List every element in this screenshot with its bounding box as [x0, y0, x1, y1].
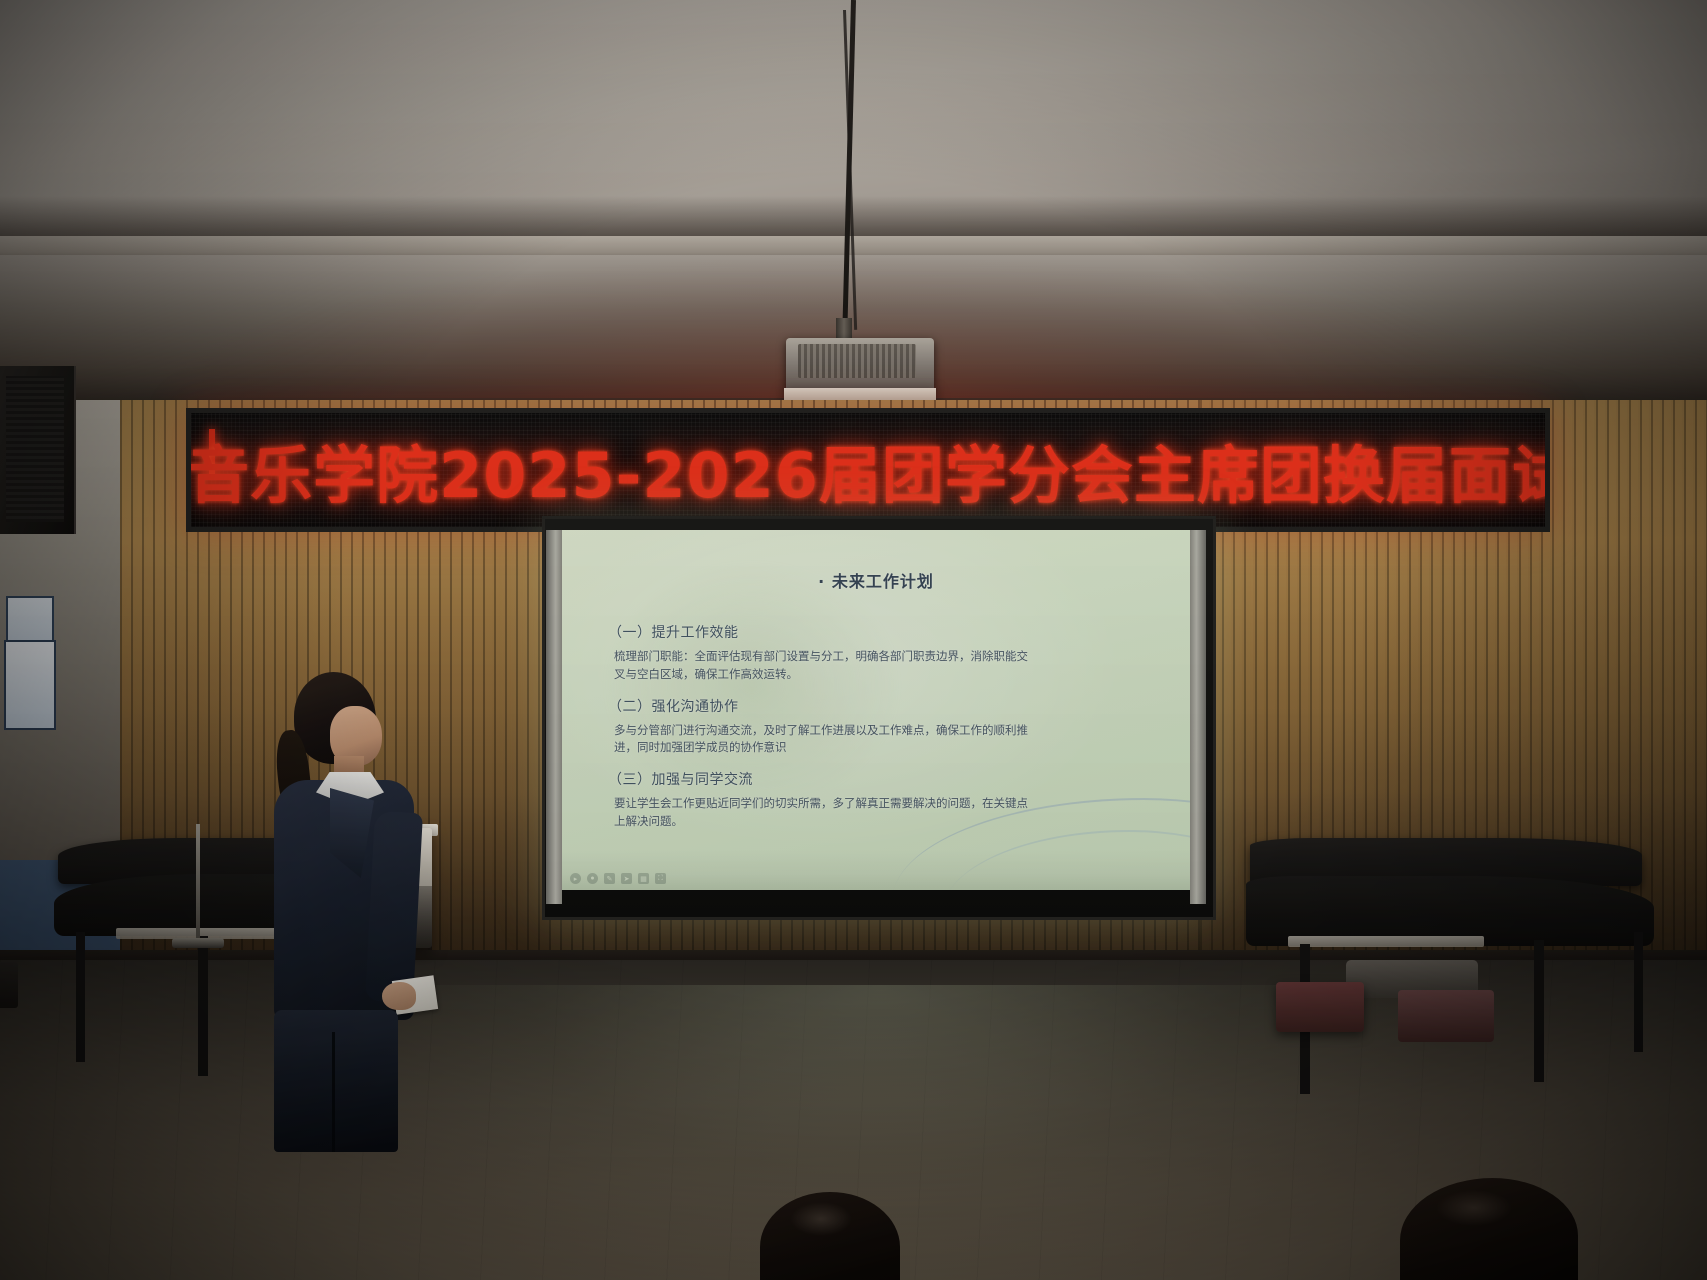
led-banner-text: 音乐学院2025-2026届团学分会主席团换届面试	[191, 413, 1545, 527]
slide-section-body-2: 多与分管部门进行沟通交流，及时了解工作进展以及工作难点，确保工作的顺利推进，同时…	[614, 722, 1039, 758]
led-banner: 音乐学院2025-2026届团学分会主席团换届面试	[186, 408, 1550, 532]
piano-right-leg-back	[1634, 932, 1643, 1052]
photo-scene: 音乐学院2025-2026届团学分会主席团换届面试 · 未来工作计划 （一）提升…	[0, 0, 1707, 1280]
projector-vent	[798, 344, 916, 378]
pointer-icon[interactable]: ➤	[621, 873, 632, 884]
record-icon[interactable]: ●	[587, 873, 598, 884]
presentation-slide[interactable]: · 未来工作计划 （一）提升工作效能 梳理部门职能：全面评估现有部门设置与分工，…	[562, 530, 1190, 890]
microphone-base	[172, 938, 224, 948]
speaker-grille	[6, 376, 64, 522]
piano-left-leg-front	[76, 932, 85, 1062]
presenter-standing	[238, 672, 428, 1152]
piano-right-leg-center	[1534, 940, 1544, 1082]
piano-left-leg-center	[198, 936, 208, 1076]
screen-edge-left	[546, 530, 562, 904]
screen-edge-right	[1190, 530, 1206, 904]
slide-section-heading-3: （三）加强与同学交流	[608, 769, 1156, 789]
slide-toolbar[interactable]: ▸ ● ✎ ➤ ▦ ⛶	[570, 873, 666, 884]
slide-title: · 未来工作计划	[562, 568, 1190, 592]
presenter-arm	[365, 811, 423, 1003]
slide-section-body-1: 梳理部门职能：全面评估现有部门设置与分工，明确各部门职责边界，消除职能交叉与空白…	[614, 648, 1039, 684]
presenter-trousers	[274, 1010, 398, 1152]
pen-icon[interactable]: ✎	[604, 873, 615, 884]
piano-right-keys	[1288, 936, 1484, 947]
slide-content: （一）提升工作效能 梳理部门职能：全面评估现有部门设置与分工，明确各部门职责边界…	[596, 622, 1156, 843]
slide-section-body-3: 要让学生会工作更贴近同学们的切实所需，多了解真正需要解决的问题，在关键点上解决问…	[614, 795, 1039, 831]
grid-icon[interactable]: ▦	[638, 873, 649, 884]
audience-head-right-highlight	[1436, 1190, 1512, 1226]
slide-section-heading-1: （一）提升工作效能	[608, 622, 1156, 642]
presenter-trouser-seam	[332, 1032, 335, 1152]
wall-poster-secondary	[4, 640, 56, 730]
play-icon[interactable]: ▸	[570, 873, 581, 884]
presenter-hand	[382, 982, 416, 1010]
piano-left-bench	[0, 962, 18, 1008]
microphone-stand	[196, 824, 200, 944]
fullscreen-icon[interactable]: ⛶	[655, 873, 666, 884]
piano-right-bench	[1276, 982, 1364, 1032]
slide-section-heading-2: （二）强化沟通协作	[608, 696, 1156, 716]
audience-head-center-highlight	[790, 1202, 852, 1236]
slide-bottom-band	[562, 850, 1190, 890]
piano-right-bench-secondary	[1398, 990, 1494, 1042]
grand-piano-right	[1242, 832, 1672, 1082]
